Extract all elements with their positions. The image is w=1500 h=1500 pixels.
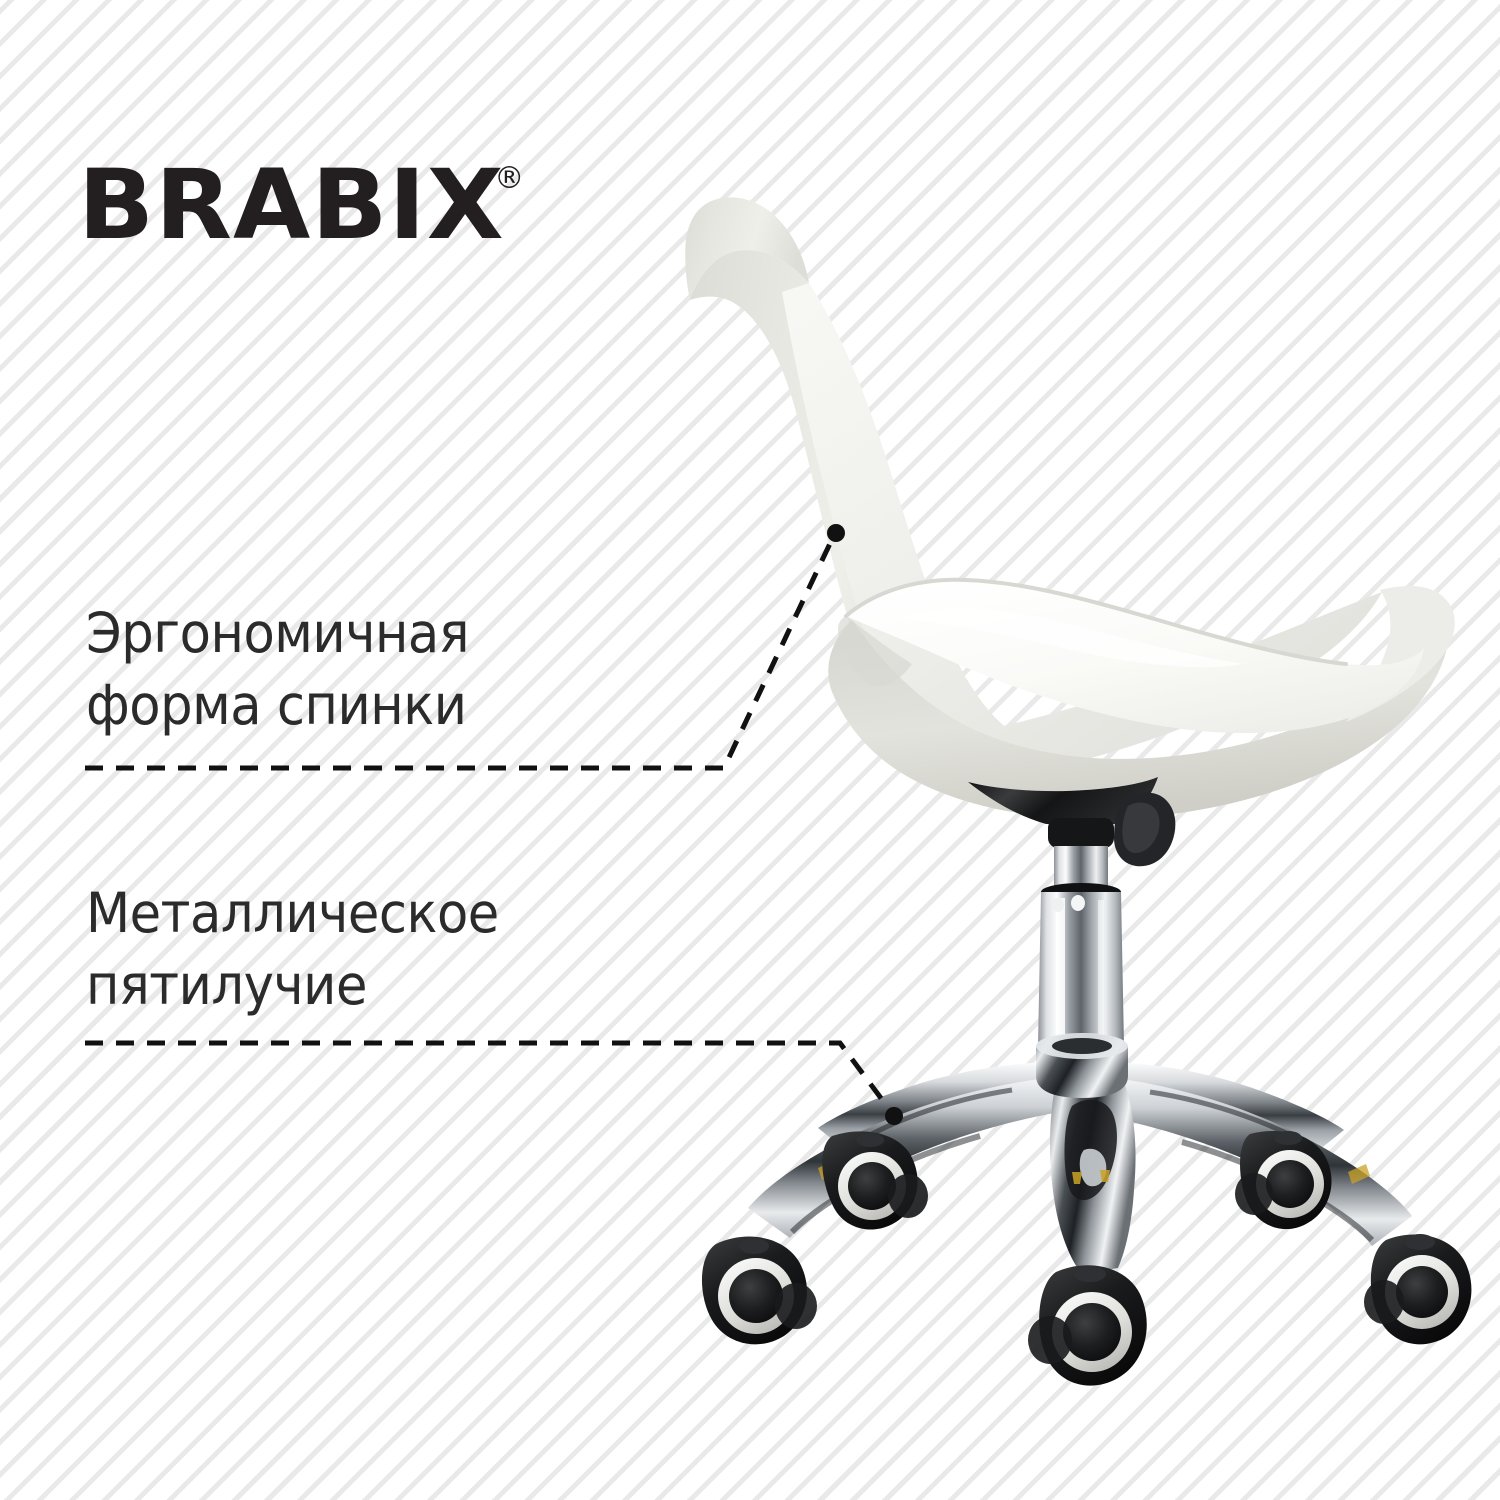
- feature-label: Эргономичная форма спинки: [86, 598, 700, 741]
- sleeve-screw-right: [1071, 895, 1085, 911]
- caster-second-wheel: [775, 1283, 817, 1329]
- caster-stem: [1405, 1234, 1435, 1250]
- caster-stem: [1274, 1131, 1302, 1145]
- caster-far-left: [702, 1237, 817, 1345]
- hub-top-bore: [1052, 1038, 1112, 1054]
- caster-stem: [1074, 1266, 1106, 1282]
- caster-front-center: [1028, 1265, 1147, 1385]
- feature-callout-metal-base: Металлическое пятилучие: [86, 878, 746, 1021]
- caster-stem: [739, 1238, 769, 1254]
- sleeve-screw-left: [1052, 898, 1064, 912]
- cylinder-specular-2: [1098, 900, 1104, 1038]
- brabix-wordmark: BRABIX: [78, 160, 505, 251]
- product-infographic: BRABIX ® Эргономичная форма спинки Метал…: [0, 0, 1500, 1500]
- cylinder-specular: [1056, 898, 1065, 1040]
- caster-wheel: [1266, 1160, 1314, 1208]
- feature-callout-ergonomic-back: Эргономичная форма спинки: [86, 598, 746, 741]
- caster-second-wheel: [1364, 1280, 1404, 1324]
- caster-far-right: [1364, 1234, 1471, 1344]
- feature-label: Металлическое пятилучие: [86, 878, 700, 1021]
- caster-second-wheel: [888, 1174, 928, 1218]
- gas-lift-cylinder: [1038, 892, 1124, 1046]
- caster-wheel: [1396, 1266, 1448, 1318]
- caster-second-wheel: [1028, 1316, 1072, 1364]
- caster-wheel: [848, 1162, 896, 1210]
- caster-wheel: [729, 1269, 783, 1323]
- caster-wheel: [1063, 1303, 1121, 1361]
- brabix-logo: BRABIX ®: [78, 160, 524, 251]
- caster-second-wheel: [1235, 1173, 1273, 1215]
- caster-stem: [856, 1133, 884, 1147]
- mechanism-collar: [1048, 818, 1114, 848]
